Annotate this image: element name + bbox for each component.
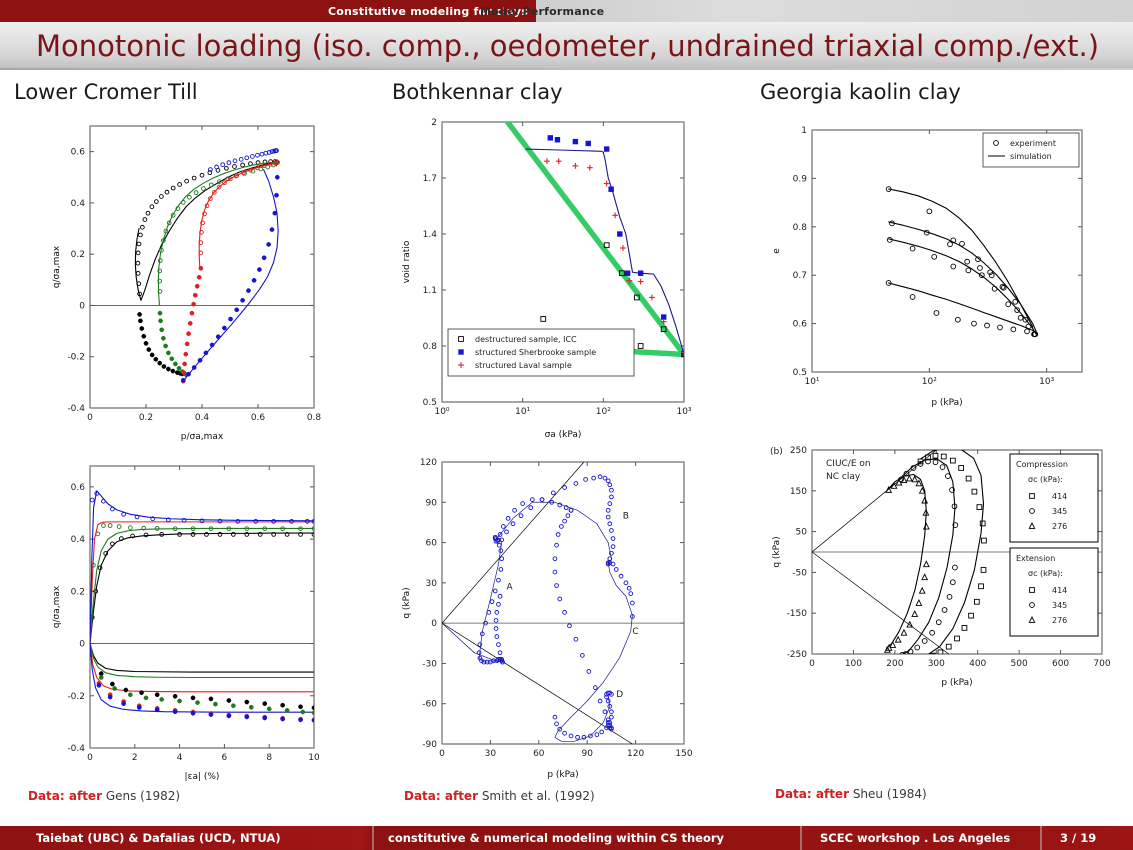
svg-text:0.8: 0.8 [307, 413, 322, 423]
caption-prefix: Data: after [775, 787, 849, 801]
caption-lower-cromer-till: Data: after Gens (1982) [28, 789, 180, 803]
svg-text:10¹: 10¹ [515, 407, 530, 417]
svg-text:50: 50 [796, 528, 808, 538]
svg-text:414: 414 [1052, 586, 1067, 595]
svg-text:q (kPa): q (kPa) [772, 536, 782, 567]
svg-text:0.7: 0.7 [793, 271, 807, 281]
svg-text:0.2: 0.2 [71, 587, 85, 597]
beamer-navigation-bar: Constitutive modeling for clays Model Pe… [0, 0, 1133, 22]
svg-text:0: 0 [79, 640, 85, 650]
svg-text:10³: 10³ [676, 407, 691, 417]
svg-text:σa (kPa): σa (kPa) [545, 430, 582, 440]
figure-lct-stress-strain: 0246810-0.4-0.200.20.40.6|εa| (%)q/σa,ma… [48, 452, 328, 782]
svg-text:simulation: simulation [1010, 152, 1052, 161]
svg-text:10²: 10² [596, 407, 611, 417]
svg-text:10³: 10³ [1039, 377, 1054, 387]
svg-text:σc (kPa):: σc (kPa): [1028, 475, 1063, 484]
svg-text:structured Laval sample: structured Laval sample [475, 361, 572, 370]
footer-divider [372, 826, 374, 850]
svg-text:150: 150 [790, 487, 807, 497]
svg-text:0.5: 0.5 [793, 368, 807, 378]
svg-text:0: 0 [87, 753, 93, 763]
svg-text:0.4: 0.4 [71, 199, 86, 209]
svg-text:400: 400 [969, 659, 986, 669]
svg-text:0.6: 0.6 [71, 483, 86, 493]
svg-text:10⁰: 10⁰ [434, 407, 449, 417]
footer-venue: SCEC workshop . Los Angeles [820, 826, 1010, 850]
svg-text:1.1: 1.1 [423, 286, 437, 296]
svg-text:0: 0 [431, 619, 437, 629]
svg-text:0.8: 0.8 [793, 223, 808, 233]
svg-text:experiment: experiment [1010, 139, 1056, 148]
figure-lct-stress-path: 00.20.40.60.8-0.4-0.200.20.40.6p/σa,maxq… [48, 112, 328, 442]
svg-text:0.6: 0.6 [71, 148, 86, 158]
svg-text:NC clay: NC clay [826, 472, 861, 482]
svg-text:σc (kPa):: σc (kPa): [1028, 569, 1063, 578]
svg-text:414: 414 [1052, 492, 1067, 501]
figure-bothkennar-compression: 10⁰10¹10²10³0.50.81.11.41.72σa (kPa)void… [398, 110, 698, 440]
svg-text:0.5: 0.5 [423, 398, 437, 408]
svg-text:0.4: 0.4 [71, 535, 86, 545]
svg-text:0.8: 0.8 [423, 342, 438, 352]
nav-left-fill [0, 0, 320, 22]
page-title: Monotonic loading (iso. comp., oedometer… [36, 29, 1099, 63]
svg-text:700: 700 [1093, 659, 1110, 669]
svg-text:p (kPa): p (kPa) [547, 770, 578, 780]
footer-divider [800, 826, 802, 850]
figure-georgia-ecurves: 10¹10²10³0.50.60.70.80.91p (kPa)eexperim… [768, 118, 1098, 408]
footer-divider [1040, 826, 1042, 850]
svg-text:0: 0 [87, 413, 93, 423]
svg-text:1: 1 [801, 126, 807, 136]
caption-reference: Sheu (1984) [853, 787, 927, 801]
svg-text:10²: 10² [922, 377, 937, 387]
svg-text:structured Sherbrooke sample: structured Sherbrooke sample [475, 348, 596, 357]
svg-text:10: 10 [308, 753, 320, 763]
svg-text:0: 0 [439, 749, 445, 759]
svg-text:0.2: 0.2 [71, 250, 85, 260]
svg-text:q (kPa): q (kPa) [402, 587, 412, 618]
svg-text:0.2: 0.2 [139, 413, 153, 423]
svg-text:8: 8 [266, 753, 272, 763]
slide-footer: Taiebat (UBC) & Dafalias (UCD, NTUA) con… [0, 826, 1133, 850]
svg-text:90: 90 [426, 498, 438, 508]
svg-text:0: 0 [809, 659, 815, 669]
svg-text:q/σa,max: q/σa,max [52, 585, 62, 628]
svg-text:120: 120 [627, 749, 644, 759]
svg-text:0: 0 [79, 301, 85, 311]
svg-text:0.6: 0.6 [793, 320, 808, 330]
svg-text:150: 150 [675, 749, 692, 759]
svg-text:60: 60 [426, 539, 438, 549]
svg-text:276: 276 [1052, 522, 1067, 531]
slide-title-band: Monotonic loading (iso. comp., oedometer… [0, 22, 1133, 70]
svg-text:p/σa,max: p/σa,max [181, 432, 224, 442]
svg-text:0.6: 0.6 [251, 413, 266, 423]
svg-text:276: 276 [1052, 616, 1067, 625]
svg-text:(b): (b) [770, 447, 783, 457]
figure-bothkennar-qp: 0306090120150-90-60-300306090120ABCDp (k… [398, 450, 698, 780]
svg-text:200: 200 [886, 659, 903, 669]
footer-page-number: 3 / 19 [1060, 826, 1096, 850]
svg-text:4: 4 [177, 753, 183, 763]
svg-text:120: 120 [420, 458, 437, 468]
svg-text:345: 345 [1052, 601, 1067, 610]
svg-text:-60: -60 [422, 700, 437, 710]
svg-text:6: 6 [222, 753, 228, 763]
column-heading-bothkennar-clay: Bothkennar clay [392, 80, 563, 104]
svg-text:q/σa,max: q/σa,max [52, 245, 62, 288]
footer-topic: constitutive & numerical modeling within… [388, 826, 724, 850]
svg-text:1.7: 1.7 [423, 174, 437, 184]
svg-text:-90: -90 [422, 740, 437, 750]
svg-text:-0.4: -0.4 [67, 744, 85, 754]
svg-text:10¹: 10¹ [804, 377, 819, 387]
svg-text:Compression: Compression [1016, 460, 1068, 469]
svg-text:destructured sample, ICC: destructured sample, ICC [475, 335, 577, 344]
svg-text:D: D [616, 690, 623, 700]
column-heading-lower-cromer-till: Lower Cromer Till [14, 80, 198, 104]
caption-reference: Gens (1982) [106, 789, 180, 803]
svg-text:|εa| (%): |εa| (%) [185, 772, 220, 782]
svg-text:30: 30 [426, 579, 438, 589]
svg-text:2: 2 [431, 118, 437, 128]
nav-subsection[interactable]: Model Performance [472, 0, 612, 22]
svg-text:p (kPa): p (kPa) [931, 398, 962, 408]
footer-authors: Taiebat (UBC) & Dafalias (UCD, NTUA) [36, 826, 281, 850]
figure-georgia-ciuce: 0100200300400500600700-250-150-505015025… [768, 438, 1116, 688]
svg-text:0.9: 0.9 [793, 174, 808, 184]
svg-text:500: 500 [1011, 659, 1028, 669]
svg-text:p (kPa): p (kPa) [941, 678, 972, 688]
svg-text:345: 345 [1052, 507, 1067, 516]
svg-text:Extension: Extension [1016, 554, 1055, 563]
svg-text:60: 60 [533, 749, 545, 759]
svg-text:-30: -30 [422, 659, 437, 669]
svg-text:-0.2: -0.2 [67, 692, 85, 702]
svg-text:30: 30 [485, 749, 497, 759]
svg-text:e: e [772, 248, 782, 254]
svg-text:-250: -250 [787, 650, 808, 660]
svg-text:90: 90 [581, 749, 593, 759]
svg-text:CIUC/E on: CIUC/E on [826, 459, 871, 469]
svg-text:void ratio: void ratio [402, 240, 412, 283]
svg-text:0.4: 0.4 [195, 413, 210, 423]
svg-text:1.4: 1.4 [423, 230, 438, 240]
svg-text:B: B [623, 511, 629, 521]
svg-text:250: 250 [790, 446, 807, 456]
caption-bothkennar-clay: Data: after Smith et al. (1992) [404, 789, 595, 803]
column-heading-georgia-kaolin-clay: Georgia kaolin clay [760, 80, 961, 104]
svg-text:C: C [632, 627, 638, 637]
svg-text:-150: -150 [787, 609, 808, 619]
caption-prefix: Data: after [404, 789, 478, 803]
caption-georgia-kaolin-clay: Data: after Sheu (1984) [775, 787, 927, 801]
caption-prefix: Data: after [28, 789, 102, 803]
svg-text:A: A [507, 583, 514, 593]
caption-reference: Smith et al. (1992) [482, 789, 595, 803]
svg-text:-50: -50 [792, 568, 807, 578]
svg-text:-0.2: -0.2 [67, 353, 85, 363]
svg-text:300: 300 [928, 659, 945, 669]
svg-text:2: 2 [132, 753, 138, 763]
svg-text:600: 600 [1052, 659, 1069, 669]
svg-text:100: 100 [845, 659, 862, 669]
svg-text:-0.4: -0.4 [67, 404, 85, 414]
